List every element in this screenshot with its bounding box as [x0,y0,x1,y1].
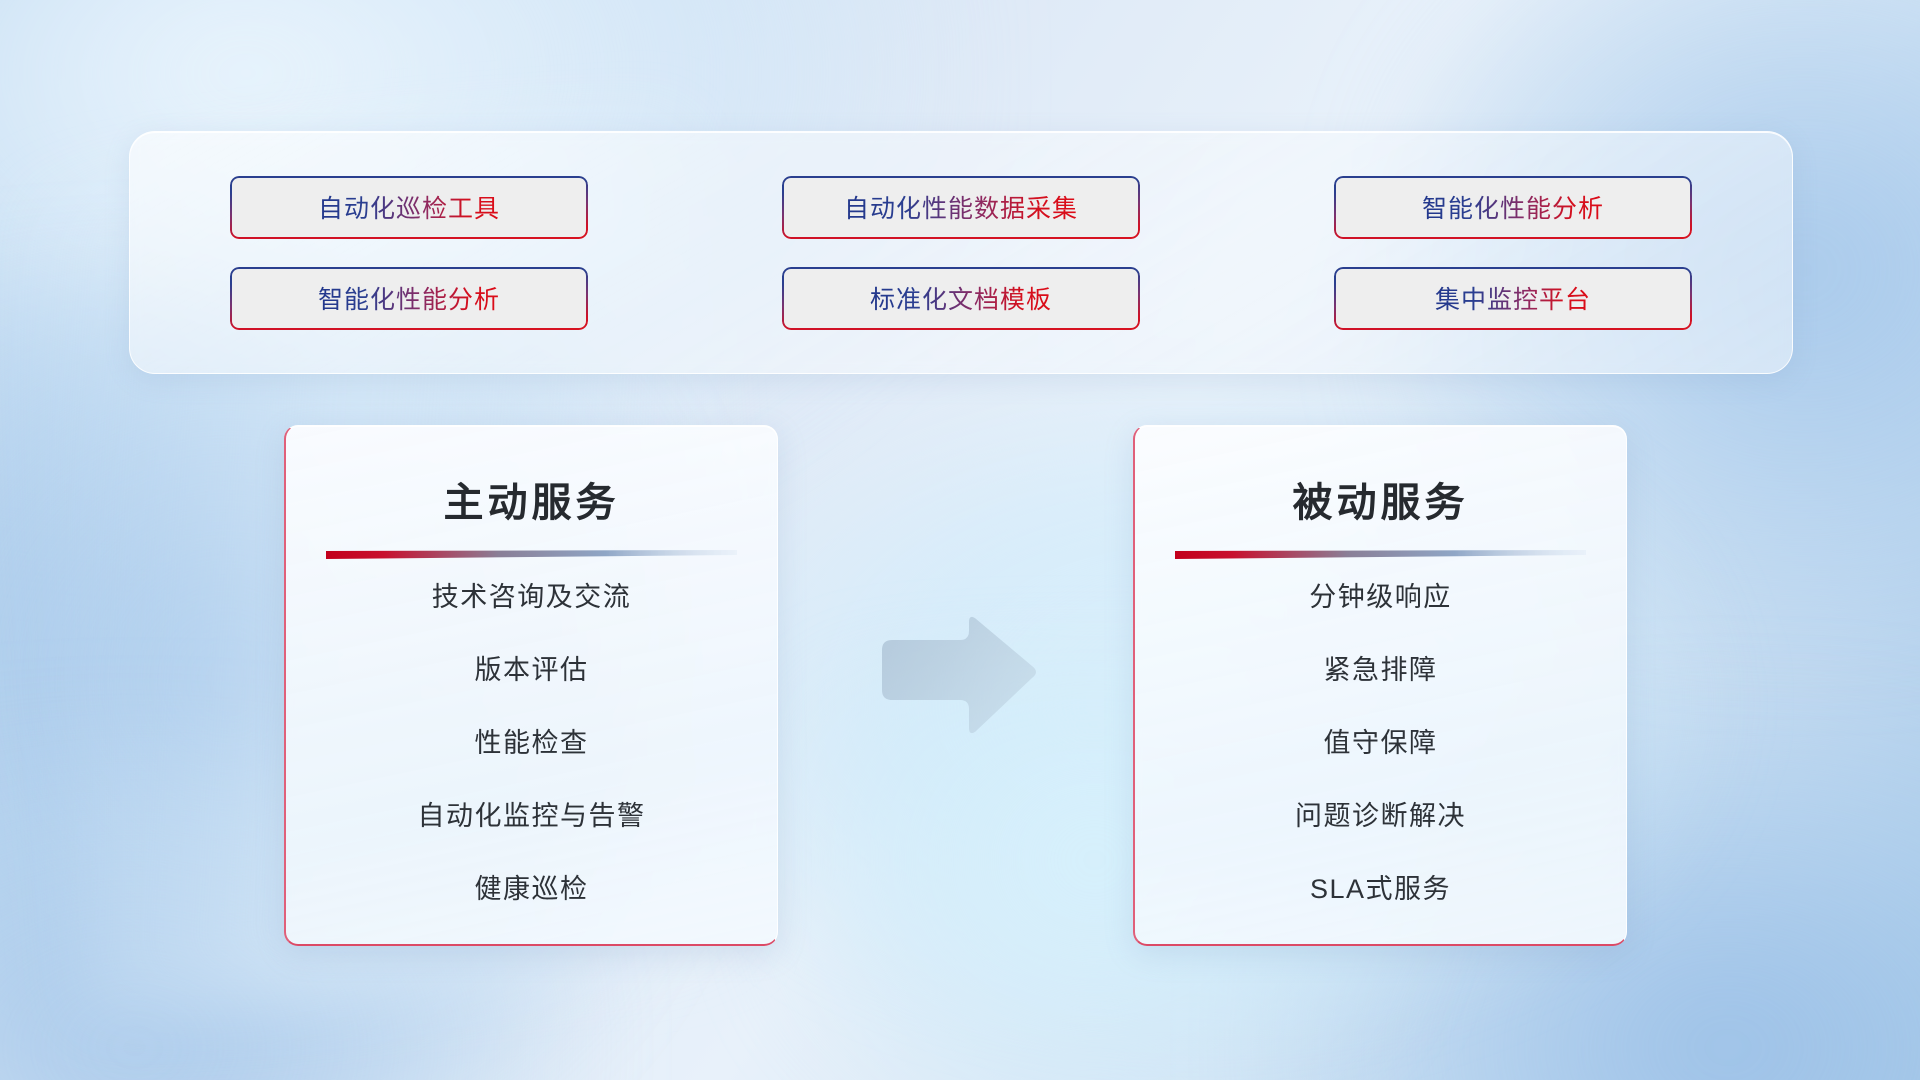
service-card-active: 主动服务 技术咨询及交流 版本评估 性能检查 自动化监控与告警 [284,425,778,946]
list-item: 紧急排障 [1169,648,1592,687]
capabilities-row-1: 自动化巡检工具 自动化性能数据采集 智能化性能分析 [230,176,1692,239]
capability-pill-label: 智能化性能分析 [1422,189,1604,225]
service-card-title: 被动服务 [1169,470,1592,528]
list-item: SLA式服务 [1169,867,1592,906]
capability-pill-label: 自动化巡检工具 [318,189,500,225]
service-card-passive: 被动服务 分钟级响应 紧急排障 值守保障 问题诊断解决 [1133,425,1627,946]
service-card-item-list: 分钟级响应 紧急排障 值守保障 问题诊断解决 SLA式服务 [1169,566,1592,922]
list-item: 健康巡检 [320,867,743,906]
list-item: 值守保障 [1169,721,1592,760]
capability-pill-automated-inspection-tool[interactable]: 自动化巡检工具 [230,176,588,239]
capability-pill-intelligent-performance-analysis-top[interactable]: 智能化性能分析 [1334,176,1692,239]
list-item: 版本评估 [320,648,743,687]
capability-pill-centralized-monitoring-platform[interactable]: 集中监控平台 [1334,267,1692,330]
service-card-item-list: 技术咨询及交流 版本评估 性能检查 自动化监控与告警 健康巡检 [320,566,743,922]
service-card-title: 主动服务 [320,470,743,528]
diagram-stage: 自动化巡检工具 自动化性能数据采集 智能化性能分析 智能化性能分析 标准化文档模… [0,0,1920,1080]
capability-pill-label: 集中监控平台 [1435,280,1591,316]
list-item: 问题诊断解决 [1169,794,1592,833]
service-card-divider [1175,550,1586,560]
capability-pill-label: 标准化文档模板 [870,280,1052,316]
arrow-right-icon [872,614,1040,736]
list-item: 自动化监控与告警 [320,794,743,833]
list-item: 技术咨询及交流 [320,575,743,614]
capabilities-row-2: 智能化性能分析 标准化文档模板 集中监控平台 [230,267,1692,330]
capabilities-panel: 自动化巡检工具 自动化性能数据采集 智能化性能分析 智能化性能分析 标准化文档模… [129,131,1793,374]
list-item: 性能检查 [320,721,743,760]
capability-pill-intelligent-performance-analysis-bottom[interactable]: 智能化性能分析 [230,267,588,330]
capability-pill-label: 智能化性能分析 [318,280,500,316]
capability-pill-automated-performance-data-collection[interactable]: 自动化性能数据采集 [782,176,1140,239]
service-card-divider [326,550,737,560]
capability-pill-standardized-document-template[interactable]: 标准化文档模板 [782,267,1140,330]
capability-pill-label: 自动化性能数据采集 [844,189,1078,225]
list-item: 分钟级响应 [1169,575,1592,614]
